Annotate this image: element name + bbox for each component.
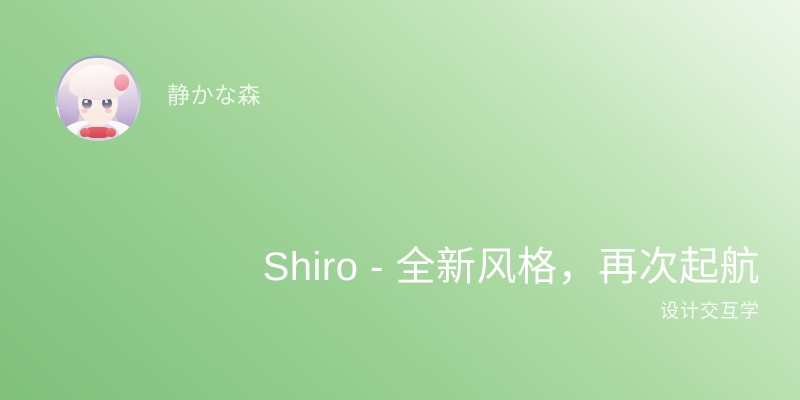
avatar-image: [55, 55, 141, 141]
avatar[interactable]: [55, 55, 141, 141]
avatar-bow: [87, 127, 109, 138]
site-name[interactable]: 静かな森: [167, 82, 261, 110]
page-subtitle: 设计交互学: [660, 300, 760, 325]
page-title: Shiro - 全新风格，再次起航: [263, 242, 760, 292]
hero-banner: 静かな森 Shiro - 全新风格，再次起航 设计交互学: [0, 0, 800, 400]
